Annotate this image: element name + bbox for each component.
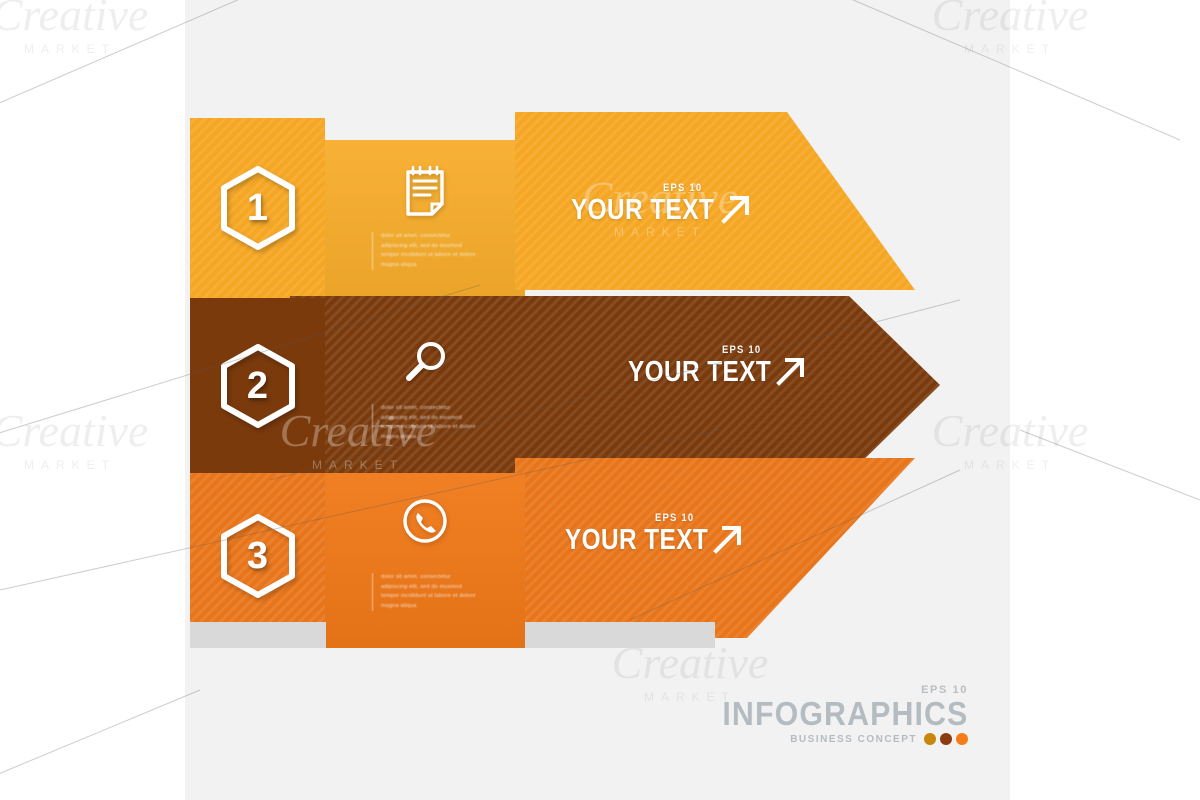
- notepad-icon: [398, 164, 452, 220]
- row-3-content-block: dolor sit amet, consectetur adipiscing e…: [325, 473, 525, 648]
- watermark: Creative MARKET: [0, 0, 200, 56]
- logo-subtitle-row: BUSINESS CONCEPT: [701, 733, 968, 745]
- watermark-sub: MARKET: [0, 42, 200, 56]
- phone-circle-icon: [398, 493, 452, 549]
- row-2-body-text: dolor sit amet, consectetur adipiscing e…: [372, 404, 478, 442]
- row-2-eps-label: EPS 10: [722, 344, 761, 356]
- logo-lockup: EPS 10 INFOGRAPHICS BUSINESS CONCEPT: [701, 684, 968, 745]
- row-2-number: 2: [247, 367, 268, 405]
- logo-dot-3: [956, 733, 968, 745]
- row-1-hexagon: 1: [219, 165, 297, 251]
- watermark-title: Creative: [0, 408, 200, 454]
- row-1-number: 1: [247, 189, 268, 227]
- watermark-sub: MARKET: [0, 458, 200, 472]
- arrow-up-right-icon: [711, 522, 745, 556]
- watermark: Creative MARKET: [0, 408, 200, 472]
- base-bar-left: [190, 622, 326, 648]
- row-2-content-block: dolor sit amet, consectetur adipiscing e…: [325, 296, 525, 474]
- logo-dots: [924, 733, 968, 745]
- base-bar-right: [525, 622, 715, 648]
- row-3-number-block: 3: [190, 473, 325, 638]
- row-3-banner: EPS 10 YOUR TEXT: [515, 458, 915, 638]
- row-3-headline: YOUR TEXT: [565, 526, 708, 555]
- row-3-body-text: dolor sit amet, consectetur adipiscing e…: [372, 573, 478, 611]
- logo-title: INFOGRAPHICS: [722, 698, 968, 729]
- row-1-eps-label: EPS 10: [663, 182, 702, 194]
- logo-subtitle: BUSINESS CONCEPT: [790, 734, 917, 745]
- row-1-body-text: dolor sit amet, consectetur adipiscing e…: [372, 232, 478, 270]
- arrow-up-right-icon: [774, 354, 808, 388]
- arrow-up-right-icon: [719, 192, 753, 226]
- infographic-canvas: 1 dolor sit amet, consectetur adipiscing…: [0, 0, 1200, 800]
- watermark-title: Creative: [0, 0, 200, 38]
- logo-dot-2: [940, 733, 952, 745]
- row-1-number-block: 1: [190, 118, 325, 298]
- logo-dot-1: [924, 733, 936, 745]
- row-3-hexagon: 3: [219, 513, 297, 599]
- magnifier-icon: [398, 336, 452, 392]
- row-3-number: 3: [247, 537, 268, 575]
- row-2-headline: YOUR TEXT: [628, 358, 771, 387]
- row-1-content-block: dolor sit amet, consectetur adipiscing e…: [325, 140, 525, 298]
- row-2-number-block: 2: [190, 298, 325, 473]
- row-2-hexagon: 2: [219, 343, 297, 429]
- row-3-eps-label: EPS 10: [655, 512, 694, 524]
- row-1-headline: YOUR TEXT: [571, 196, 714, 225]
- row-1-banner: EPS 10 YOUR TEXT: [515, 112, 915, 290]
